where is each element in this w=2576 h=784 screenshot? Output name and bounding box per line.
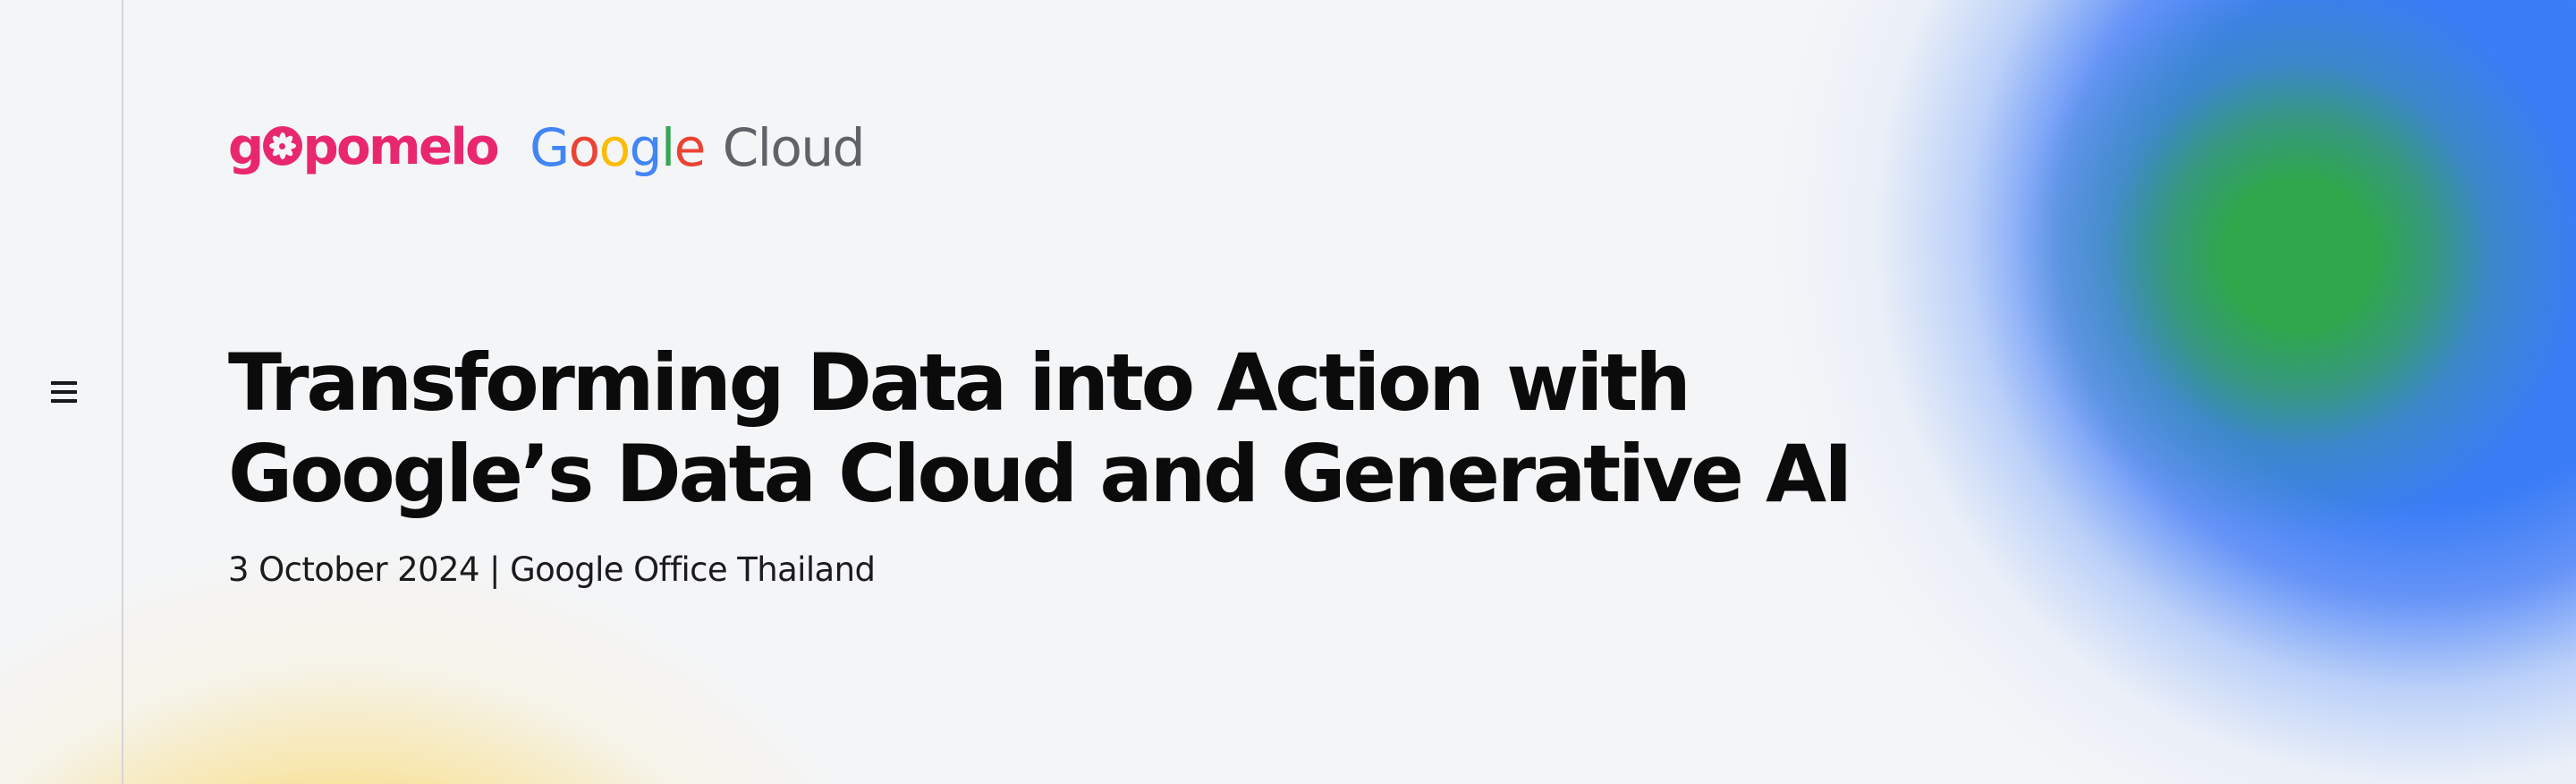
google-letter-l: l: [661, 122, 674, 174]
google-letter-g2: g: [630, 122, 661, 174]
decor-blob-green: [2017, 0, 2576, 537]
gopomelo-prefix: g: [228, 123, 262, 173]
headline-line-1: Transforming Data into Action with: [228, 337, 1850, 429]
google-cloud-word: Cloud: [723, 122, 864, 174]
logo-row: g pomelo G o o g l: [228, 118, 864, 177]
google-letter-o2: o: [599, 122, 630, 174]
decor-blob-blue: [1771, 0, 2576, 784]
left-rail: [0, 0, 123, 784]
page-title: Transforming Data into Action with Googl…: [228, 337, 1850, 520]
gopomelo-logo: g pomelo: [228, 123, 497, 173]
google-letter-o1: o: [569, 122, 599, 174]
rail-divider: [122, 0, 123, 784]
pomelo-slice-icon: [263, 126, 302, 166]
google-letter-g1: G: [530, 122, 568, 174]
headline-line-2: Google’s Data Cloud and Generative AI: [228, 429, 1850, 520]
google-letter-e: e: [674, 122, 705, 174]
gopomelo-suffix: pomelo: [303, 123, 498, 173]
google-cloud-logo: G o o g l e Cloud: [530, 122, 864, 174]
presentation-slide: g pomelo G o o g l: [0, 0, 2576, 784]
event-details: 3 October 2024 | Google Office Thailand: [228, 550, 875, 590]
